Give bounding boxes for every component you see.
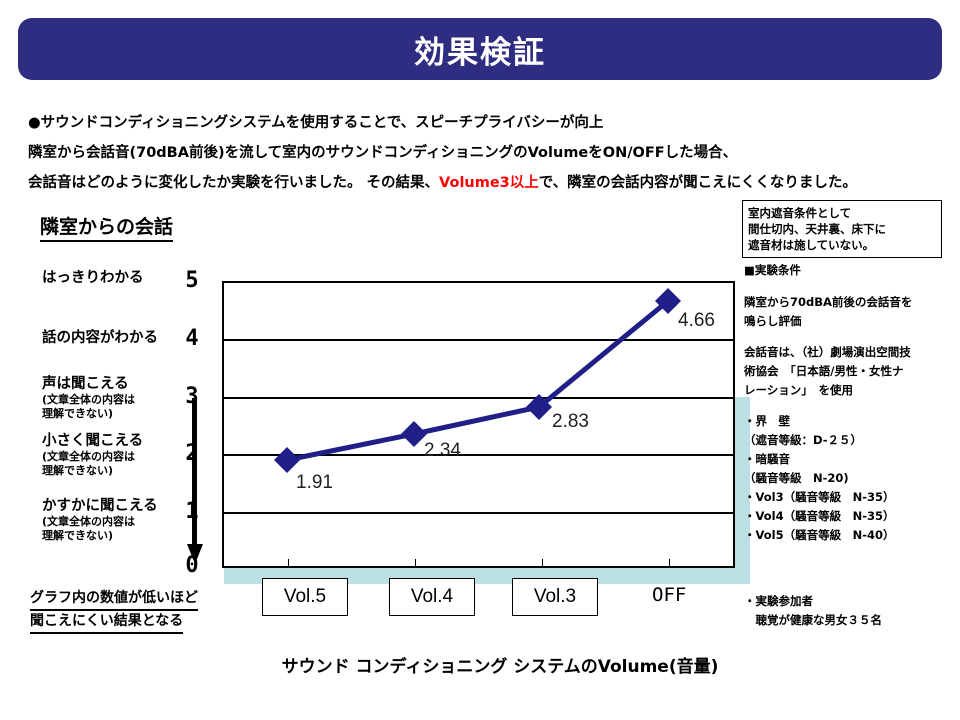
experiment-conditions-heading: ■実験条件	[744, 262, 954, 279]
exp-block2-line-3: レーション」 を使用	[744, 381, 954, 400]
exp-block3-line-7: ・Vol5（騒音等級 N-40）	[744, 526, 954, 545]
page-title: 効果検証	[414, 27, 546, 72]
point-label-2: 2.34	[424, 440, 461, 462]
experiment-conditions-block-2: 会話音は、（社）劇場演出空間技 術協会 「日本語/男性・女性ナ レーション」 を…	[744, 343, 954, 400]
exp-block1-line-1: 隣室から70dBA前後の会話音を	[744, 293, 954, 312]
intro-text-block: ●サウンドコンディショニングシステムを使用することで、スピーチプライバシーが向上…	[28, 108, 788, 198]
gridline-1	[224, 512, 733, 514]
gridline-2	[224, 454, 733, 456]
xtick-label-vol5[interactable]: Vol.5	[262, 578, 348, 616]
ylabel-1-sub-2: 理解できない)	[42, 529, 207, 543]
ytick-4: 4	[180, 326, 204, 351]
room-condition-line-1: 室内遮音条件として	[748, 205, 936, 221]
room-condition-box: 室内遮音条件として 間仕切内、天井裏、床下に 遮音材は施していない。	[742, 200, 942, 258]
down-arrow-head	[187, 544, 203, 564]
down-arrow-icon	[190, 398, 198, 566]
slide-root: 効果検証 ●サウンドコンディショニングシステムを使用することで、スピーチプライバ…	[0, 0, 960, 720]
ylabel-2-sub-2: 理解できない)	[42, 464, 207, 478]
chart-footnote: グラフ内の数値が低いほど 聞こえにくい結果となる	[30, 588, 260, 634]
ylabel-3-sub-2: 理解できない)	[42, 407, 207, 421]
room-condition-line-3: 遮音材は施していない。	[748, 237, 936, 253]
intro-line-3-part-a: 会話音はどのように変化したか実験を行いました。 その結果、	[28, 175, 439, 191]
intro-line-3: 会話音はどのように変化したか実験を行いました。 その結果、Volume3以上で、…	[28, 168, 788, 198]
point-label-3: 2.83	[552, 411, 589, 433]
exp-block2-line-2: 術協会 「日本語/男性・女性ナ	[744, 362, 954, 381]
xaxis-title: サウンド コンディショニング システムのVolume(音量)	[250, 652, 750, 677]
exp-block3-line-2: （遮音等級：D-２５）	[744, 431, 954, 450]
experiment-participants-block: ・実験参加者 聴覚が健康な男女３５名	[744, 592, 954, 630]
chart-footnote-line-1: グラフ内の数値が低いほど	[30, 588, 198, 611]
exp-block3-line-4: （騒音等級 N-20)	[744, 469, 954, 488]
experiment-conditions-column: ■実験条件 隣室から70dBA前後の会話音を 鳴らし評価 会話音は、（社）劇場演…	[744, 262, 954, 557]
ytick-5: 5	[180, 268, 204, 293]
xtick-3	[542, 559, 543, 566]
xtick-label-vol3[interactable]: Vol.3	[512, 578, 598, 616]
gridline-4	[224, 339, 733, 341]
exp-block3-line-1: ・界 壁	[744, 412, 954, 431]
exp-block3-line-6: ・Vol4（騒音等級 N-35）	[744, 507, 954, 526]
gridline-3	[224, 397, 733, 399]
room-condition-line-2: 間仕切内、天井裏、床下に	[748, 221, 936, 237]
slide-title-banner: 効果検証	[18, 18, 942, 80]
point-label-4: 4.66	[678, 310, 715, 332]
exp-block1-line-2: 鳴らし評価	[744, 312, 954, 331]
participants-line-2: 聴覚が健康な男女３５名	[744, 611, 954, 630]
experiment-conditions-block-1: 隣室から70dBA前後の会話音を 鳴らし評価	[744, 293, 954, 331]
intro-line-3-highlight: Volume3以上	[439, 175, 539, 191]
intro-line-3-part-b: で、隣室の会話内容が聞こえにくくなりました。	[539, 175, 857, 191]
xtick-4	[669, 559, 670, 566]
chart-plot-area	[222, 281, 735, 568]
xtick-2	[415, 559, 416, 566]
point-label-1: 1.91	[296, 472, 333, 494]
down-arrow-shaft	[192, 398, 197, 548]
intro-line-2: 隣室から会話音(70dBA前後)を流して室内のサウンドコンディショニングのVol…	[28, 138, 788, 168]
experiment-conditions-block-3: ・界 壁 （遮音等級：D-２５） ・暗騒音 （騒音等級 N-20) ・Vol3（…	[744, 412, 954, 545]
chart-heading: 隣室からの会話	[40, 212, 173, 242]
exp-block3-line-5: ・Vol3（騒音等級 N-35）	[744, 488, 954, 507]
chart-footnote-line-2: 聞こえにくい結果となる	[30, 611, 183, 634]
exp-block3-line-3: ・暗騒音	[744, 450, 954, 469]
xtick-1	[288, 559, 289, 566]
exp-block2-line-1: 会話音は、（社）劇場演出空間技	[744, 343, 954, 362]
xtick-label-off: OFF	[652, 584, 686, 606]
intro-bullet-line: ●サウンドコンディショニングシステムを使用することで、スピーチプライバシーが向上	[28, 108, 788, 138]
xtick-label-vol4[interactable]: Vol.4	[389, 578, 475, 616]
participants-line-1: ・実験参加者	[744, 592, 954, 611]
